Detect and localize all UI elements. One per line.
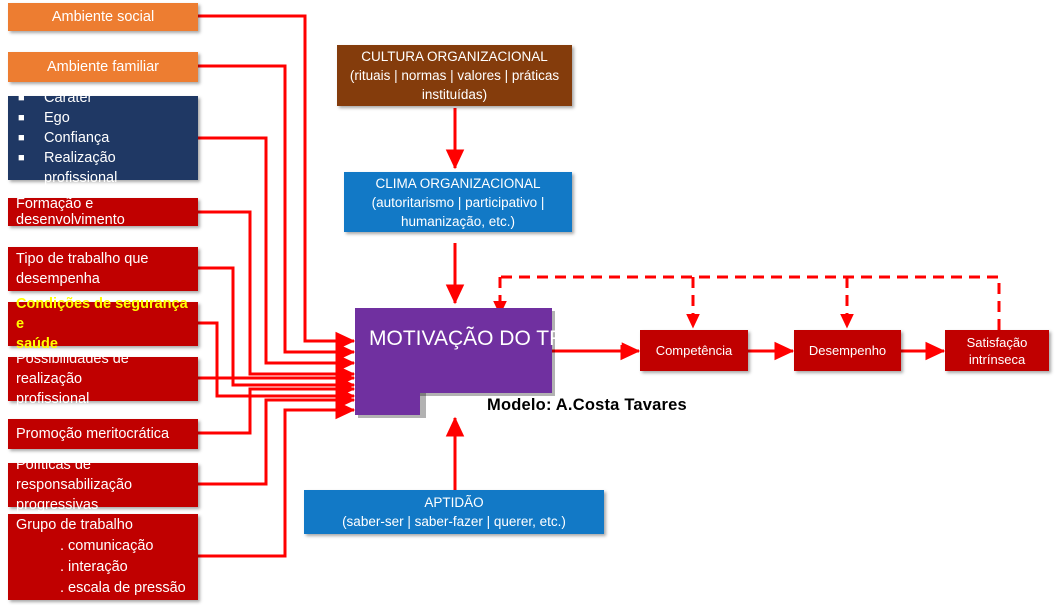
outcome-box-competencia[interactable]: Competência bbox=[640, 330, 748, 371]
outcome-label-line1: Satisfação bbox=[967, 334, 1028, 351]
wire-politicas bbox=[197, 400, 354, 484]
bullet-item: ■ Confiança bbox=[18, 128, 109, 148]
input-label-line2: desempenha bbox=[16, 269, 100, 289]
input-label-line1: Tipo de trabalho que bbox=[16, 249, 148, 269]
input-box-possibilidades[interactable]: Possibilidades de realização profissiona… bbox=[8, 357, 198, 401]
bullet-dot: ■ bbox=[18, 148, 44, 168]
input-label-line1: Grupo de trabalho bbox=[16, 515, 133, 536]
input-label: Promoção meritocrática bbox=[16, 426, 169, 442]
bullet-item: ■ Caráter bbox=[18, 88, 92, 108]
outcome-label: Competência bbox=[656, 343, 733, 358]
clima-line3: humanização, etc.) bbox=[401, 212, 515, 231]
input-box-tipo-trabalho[interactable]: Tipo de trabalho que desempenha bbox=[8, 247, 198, 291]
outcome-box-desempenho[interactable]: Desempenho bbox=[794, 330, 901, 371]
outcome-label: Desempenho bbox=[809, 343, 886, 358]
input-box-promocao[interactable]: Promoção meritocrática bbox=[8, 419, 198, 449]
input-label-line2: . comunicação bbox=[16, 536, 154, 557]
input-label-line3: . interação bbox=[16, 557, 128, 578]
input-box-formacao[interactable]: Formação e desenvolvimento bbox=[8, 198, 198, 226]
wire-traits bbox=[197, 138, 354, 363]
input-box-ambiente-familiar[interactable]: Ambiente familiar bbox=[8, 52, 198, 82]
outcome-label-line2: intrínseca bbox=[969, 351, 1025, 368]
input-label-line2: profissional bbox=[16, 389, 89, 409]
clima-line1: CLIMA ORGANIZACIONAL bbox=[375, 174, 540, 193]
bullet-label: Realização profissional bbox=[44, 148, 192, 188]
input-box-condicoes-seguranca[interactable]: Condições de segurança e saúde bbox=[8, 302, 198, 346]
input-box-traits[interactable]: ■ Caráter ■ Ego ■ Confiança ■ Realização… bbox=[8, 96, 198, 180]
feedback-loop bbox=[500, 277, 999, 330]
bullet-item: ■ Ego bbox=[18, 108, 70, 128]
cultura-line2: (rituais | normas | valores | práticas bbox=[350, 66, 559, 85]
aptidao-line1: APTIDÃO bbox=[424, 493, 483, 512]
diagram-canvas: Ambiente social Ambiente familiar ■ Cará… bbox=[0, 0, 1055, 605]
feedback-trunk bbox=[500, 277, 999, 330]
cultura-line1: CULTURA ORGANIZACIONAL bbox=[361, 47, 548, 66]
bullet-dot: ■ bbox=[18, 88, 44, 108]
motivacao-lower-panel bbox=[355, 388, 420, 415]
input-label: Formação e desenvolvimento bbox=[16, 196, 198, 228]
bullet-item: ■ Realização profissional bbox=[18, 148, 192, 188]
aptidao-box[interactable]: APTIDÃO (saber-ser | saber-fazer | quere… bbox=[304, 490, 604, 534]
input-label-line1: Condições de segurança e bbox=[16, 294, 198, 334]
cultura-organizacional-box[interactable]: CULTURA ORGANIZACIONAL (rituais | normas… bbox=[337, 45, 572, 106]
input-box-ambiente-social[interactable]: Ambiente social bbox=[8, 3, 198, 31]
input-label-line2: progressivas bbox=[16, 495, 98, 515]
clima-line2: (autoritarismo | participativo | bbox=[372, 193, 545, 212]
cultura-line3: instituídas) bbox=[422, 85, 487, 104]
bullet-dot: ■ bbox=[18, 108, 44, 128]
input-label-line1: Políticas de responsabilização bbox=[16, 455, 198, 495]
clima-organizacional-box[interactable]: CLIMA ORGANIZACIONAL (autoritarismo | pa… bbox=[344, 172, 572, 232]
wire-tipo-trabalho bbox=[197, 268, 354, 385]
motivacao-line1: MOTIVAÇÃO DO bbox=[369, 327, 531, 350]
outcome-box-satisfacao[interactable]: Satisfação intrínseca bbox=[945, 330, 1049, 371]
aptidao-line2: (saber-ser | saber-fazer | querer, etc.) bbox=[342, 512, 566, 531]
wire-formacao bbox=[197, 212, 354, 374]
input-label: Ambiente social bbox=[52, 9, 154, 25]
input-label-line4: . escala de pressão bbox=[16, 578, 186, 599]
bullet-dot: ■ bbox=[18, 128, 44, 148]
input-label-line1: Possibilidades de realização bbox=[16, 349, 198, 389]
input-box-grupo-trabalho[interactable]: Grupo de trabalho . comunicação . intera… bbox=[8, 514, 198, 600]
input-box-politicas[interactable]: Políticas de responsabilização progressi… bbox=[8, 463, 198, 507]
bullet-label: Caráter bbox=[44, 88, 92, 108]
model-credit-label: Modelo: A.Costa Tavares bbox=[487, 396, 687, 415]
input-label: Ambiente familiar bbox=[47, 59, 159, 75]
bullet-label: Confiança bbox=[44, 128, 109, 148]
wire-ambiente-familiar bbox=[197, 66, 354, 352]
bullet-label: Ego bbox=[44, 108, 70, 128]
